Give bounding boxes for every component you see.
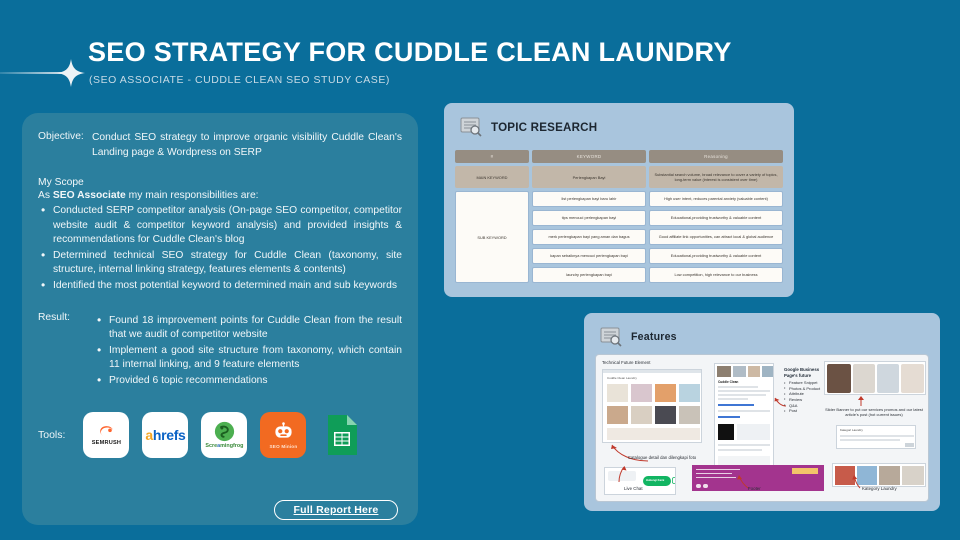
sf-pre: Scre <box>205 443 217 449</box>
main-keyword-value: Perlengkapan Bayi <box>532 166 646 188</box>
sub-keyword-reasoning: High user intent, reduces parental anxie… <box>649 191 783 207</box>
sub-keyword-value: tips mencuci perlengkapan bayi <box>532 210 646 226</box>
sub-keyword-rows: list perlengkapan bayi baru lahir High u… <box>532 191 783 283</box>
topic-research-card: TOPIC RESEARCH # KEYWORD Reasoning MAIN … <box>444 103 794 297</box>
column-header: KEYWORD <box>532 150 646 163</box>
sub-keyword-reasoning: Low competition, high relevance to our b… <box>649 267 783 283</box>
semrush-logo-icon[interactable]: SEMRUSH <box>83 412 129 458</box>
table-row: kapan sebaiknya mencuci perlengkapan bay… <box>532 248 783 264</box>
list-item: Identified the most potential keyword to… <box>38 279 402 294</box>
topic-card-header: TOPIC RESEARCH <box>460 117 784 137</box>
result-label: Result: <box>38 311 94 390</box>
features-card-title: Features <box>631 331 677 343</box>
table-row: merk perlengkapan bayi yang aman dan bag… <box>532 229 783 245</box>
google-sheets-logo-icon[interactable] <box>319 412 365 458</box>
scope-intro-suffix: my main responsibilities are: <box>126 190 259 201</box>
objective-row: Objective: Conduct SEO strategy to impro… <box>38 130 402 160</box>
topic-research-table: # KEYWORD Reasoning MAIN KEYWORD Perleng… <box>455 150 783 283</box>
mock-title: Cuddle Clean Laundry <box>607 376 637 380</box>
sub-keyword-label: SUB KEYWORD <box>455 191 529 283</box>
document-magnifier-icon <box>600 327 622 347</box>
list-item: Found 18 improvement points for Cuddle C… <box>94 314 402 343</box>
scope-bullet-list: Conducted SERP competitor analysis (On-p… <box>38 204 402 294</box>
column-header: Reasoning <box>649 150 783 163</box>
mock-toolbar <box>603 370 701 373</box>
caption-live-chat: Live Chat <box>624 486 643 491</box>
arrow-to-slider-icon <box>854 395 868 407</box>
slider-banner-photos <box>824 361 926 395</box>
kategory-laundry-screenshot-top: Kategori Laundry <box>836 425 916 449</box>
seo-minion-logo-icon[interactable]: SEO Minion <box>260 412 306 458</box>
features-card: Features Technical Future Element Cuddle… <box>584 313 940 511</box>
result-row: Result: Found 18 improvement points for … <box>38 311 402 390</box>
column-header: # <box>455 150 529 163</box>
list-item: Conducted SERP competitor analysis (On-p… <box>38 204 402 248</box>
mock-label: Kategori Laundry <box>840 428 863 432</box>
ahrefs-hrefs: hrefs <box>153 427 186 443</box>
gb-business-name: Cuddle Clean <box>718 380 738 384</box>
arrow-to-google-business-icon <box>772 395 788 409</box>
scope-intro: As SEO Associate my main responsibilitie… <box>38 190 402 201</box>
document-magnifier-icon <box>460 117 482 137</box>
full-report-label: Full Report Here <box>294 504 379 516</box>
tools-row: Tools: SEMRUSH ahrefs Screamingfrog SEO … <box>38 412 365 458</box>
sub-keyword-section: SUB KEYWORD list perlengkapan bayi baru … <box>455 191 783 283</box>
chat-bubble-icon <box>672 477 676 485</box>
features-diagram: Technical Future Element Cuddle Clean La… <box>595 354 929 502</box>
arrow-to-live-chat-icon <box>616 465 630 483</box>
sub-keyword-value: merk perlengkapan bayi yang aman dan bag… <box>532 229 646 245</box>
summary-panel: Objective: Conduct SEO strategy to impro… <box>22 113 418 525</box>
list-item: Implement a good site structure from tax… <box>94 344 402 373</box>
sub-keyword-value: kapan sebaiknya mencuci perlengkapan bay… <box>532 248 646 264</box>
page-header: SEO STRATEGY FOR CUDDLE CLEAN LAUNDRY (S… <box>0 30 760 100</box>
result-bullet-list: Found 18 improvement points for Cuddle C… <box>94 314 402 390</box>
arrow-to-catalogue-icon <box>602 439 652 465</box>
sf-post: mingfrog <box>220 443 243 449</box>
scope-heading: My Scope <box>38 177 402 188</box>
seo-minion-label: SEO Minion <box>270 444 298 449</box>
main-keyword-label: MAIN KEYWORD <box>455 166 529 188</box>
screamingfrog-label: Screamingfrog <box>205 443 243 449</box>
table-row: laundry perlengkapan bayi Low competitio… <box>532 267 783 283</box>
catalogue-screenshot: Cuddle Clean Laundry <box>602 369 702 443</box>
tools-label: Tools: <box>38 429 65 441</box>
scope-role: SEO Associate <box>53 190 126 201</box>
sparkle-icon <box>56 58 86 88</box>
page-subtitle: (SEO ASSOCIATE - CUDDLE CLEAN SEO STUDY … <box>89 74 390 86</box>
sub-keyword-reasoning: Educational,providing trustworthy & valu… <box>649 248 783 264</box>
table-header-row: # KEYWORD Reasoning <box>455 150 783 163</box>
features-card-header: Features <box>600 327 930 347</box>
scope-intro-prefix: As <box>38 190 53 201</box>
caption-kategory-laundry: Kategory Laundry <box>862 486 897 491</box>
sub-keyword-value: list perlengkapan bayi baru lahir <box>532 191 646 207</box>
screamingfrog-logo-icon[interactable]: Screamingfrog <box>201 412 247 458</box>
chat-button-label: Hubungi Kami <box>646 479 664 482</box>
list-item: Determined technical SEO strategy for Cu… <box>38 249 402 278</box>
technical-future-element-label: Technical Future Element <box>602 360 650 365</box>
ahrefs-label: ahrefs <box>145 427 185 443</box>
page-title: SEO STRATEGY FOR CUDDLE CLEAN LAUNDRY <box>88 37 732 68</box>
sub-keyword-value: laundry perlengkapan bayi <box>532 267 646 283</box>
ahrefs-logo-icon[interactable]: ahrefs <box>142 412 188 458</box>
full-report-button[interactable]: Full Report Here <box>274 500 398 520</box>
list-item: Provided 6 topic recommendations <box>94 374 402 389</box>
sub-keyword-reasoning: Educational,providing trustworthy & valu… <box>649 210 783 226</box>
table-row: MAIN KEYWORD Perlengkapan Bayi Substanti… <box>455 166 783 188</box>
objective-label: Objective: <box>38 130 92 160</box>
table-row: tips mencuci perlengkapan bayi Education… <box>532 210 783 226</box>
ahrefs-a: a <box>145 427 153 443</box>
main-keyword-reasoning: Substantial search volume, broad relevan… <box>649 166 783 188</box>
slider-banner-note: Slider Banner to put our services promos… <box>818 407 929 418</box>
sub-keyword-reasoning: Good affiliate link opportunities, can a… <box>649 229 783 245</box>
caption-footer: Footer <box>748 486 761 491</box>
topic-card-title: TOPIC RESEARCH <box>491 121 597 134</box>
semrush-label: SEMRUSH <box>92 440 121 446</box>
catalogue-caption: Catalogue detail dan dilengkapi foto <box>608 455 716 460</box>
objective-text: Conduct SEO strategy to improve organic … <box>92 130 402 160</box>
table-row: list perlengkapan bayi baru lahir High u… <box>532 191 783 207</box>
kategory-laundry-screenshot <box>832 463 926 487</box>
